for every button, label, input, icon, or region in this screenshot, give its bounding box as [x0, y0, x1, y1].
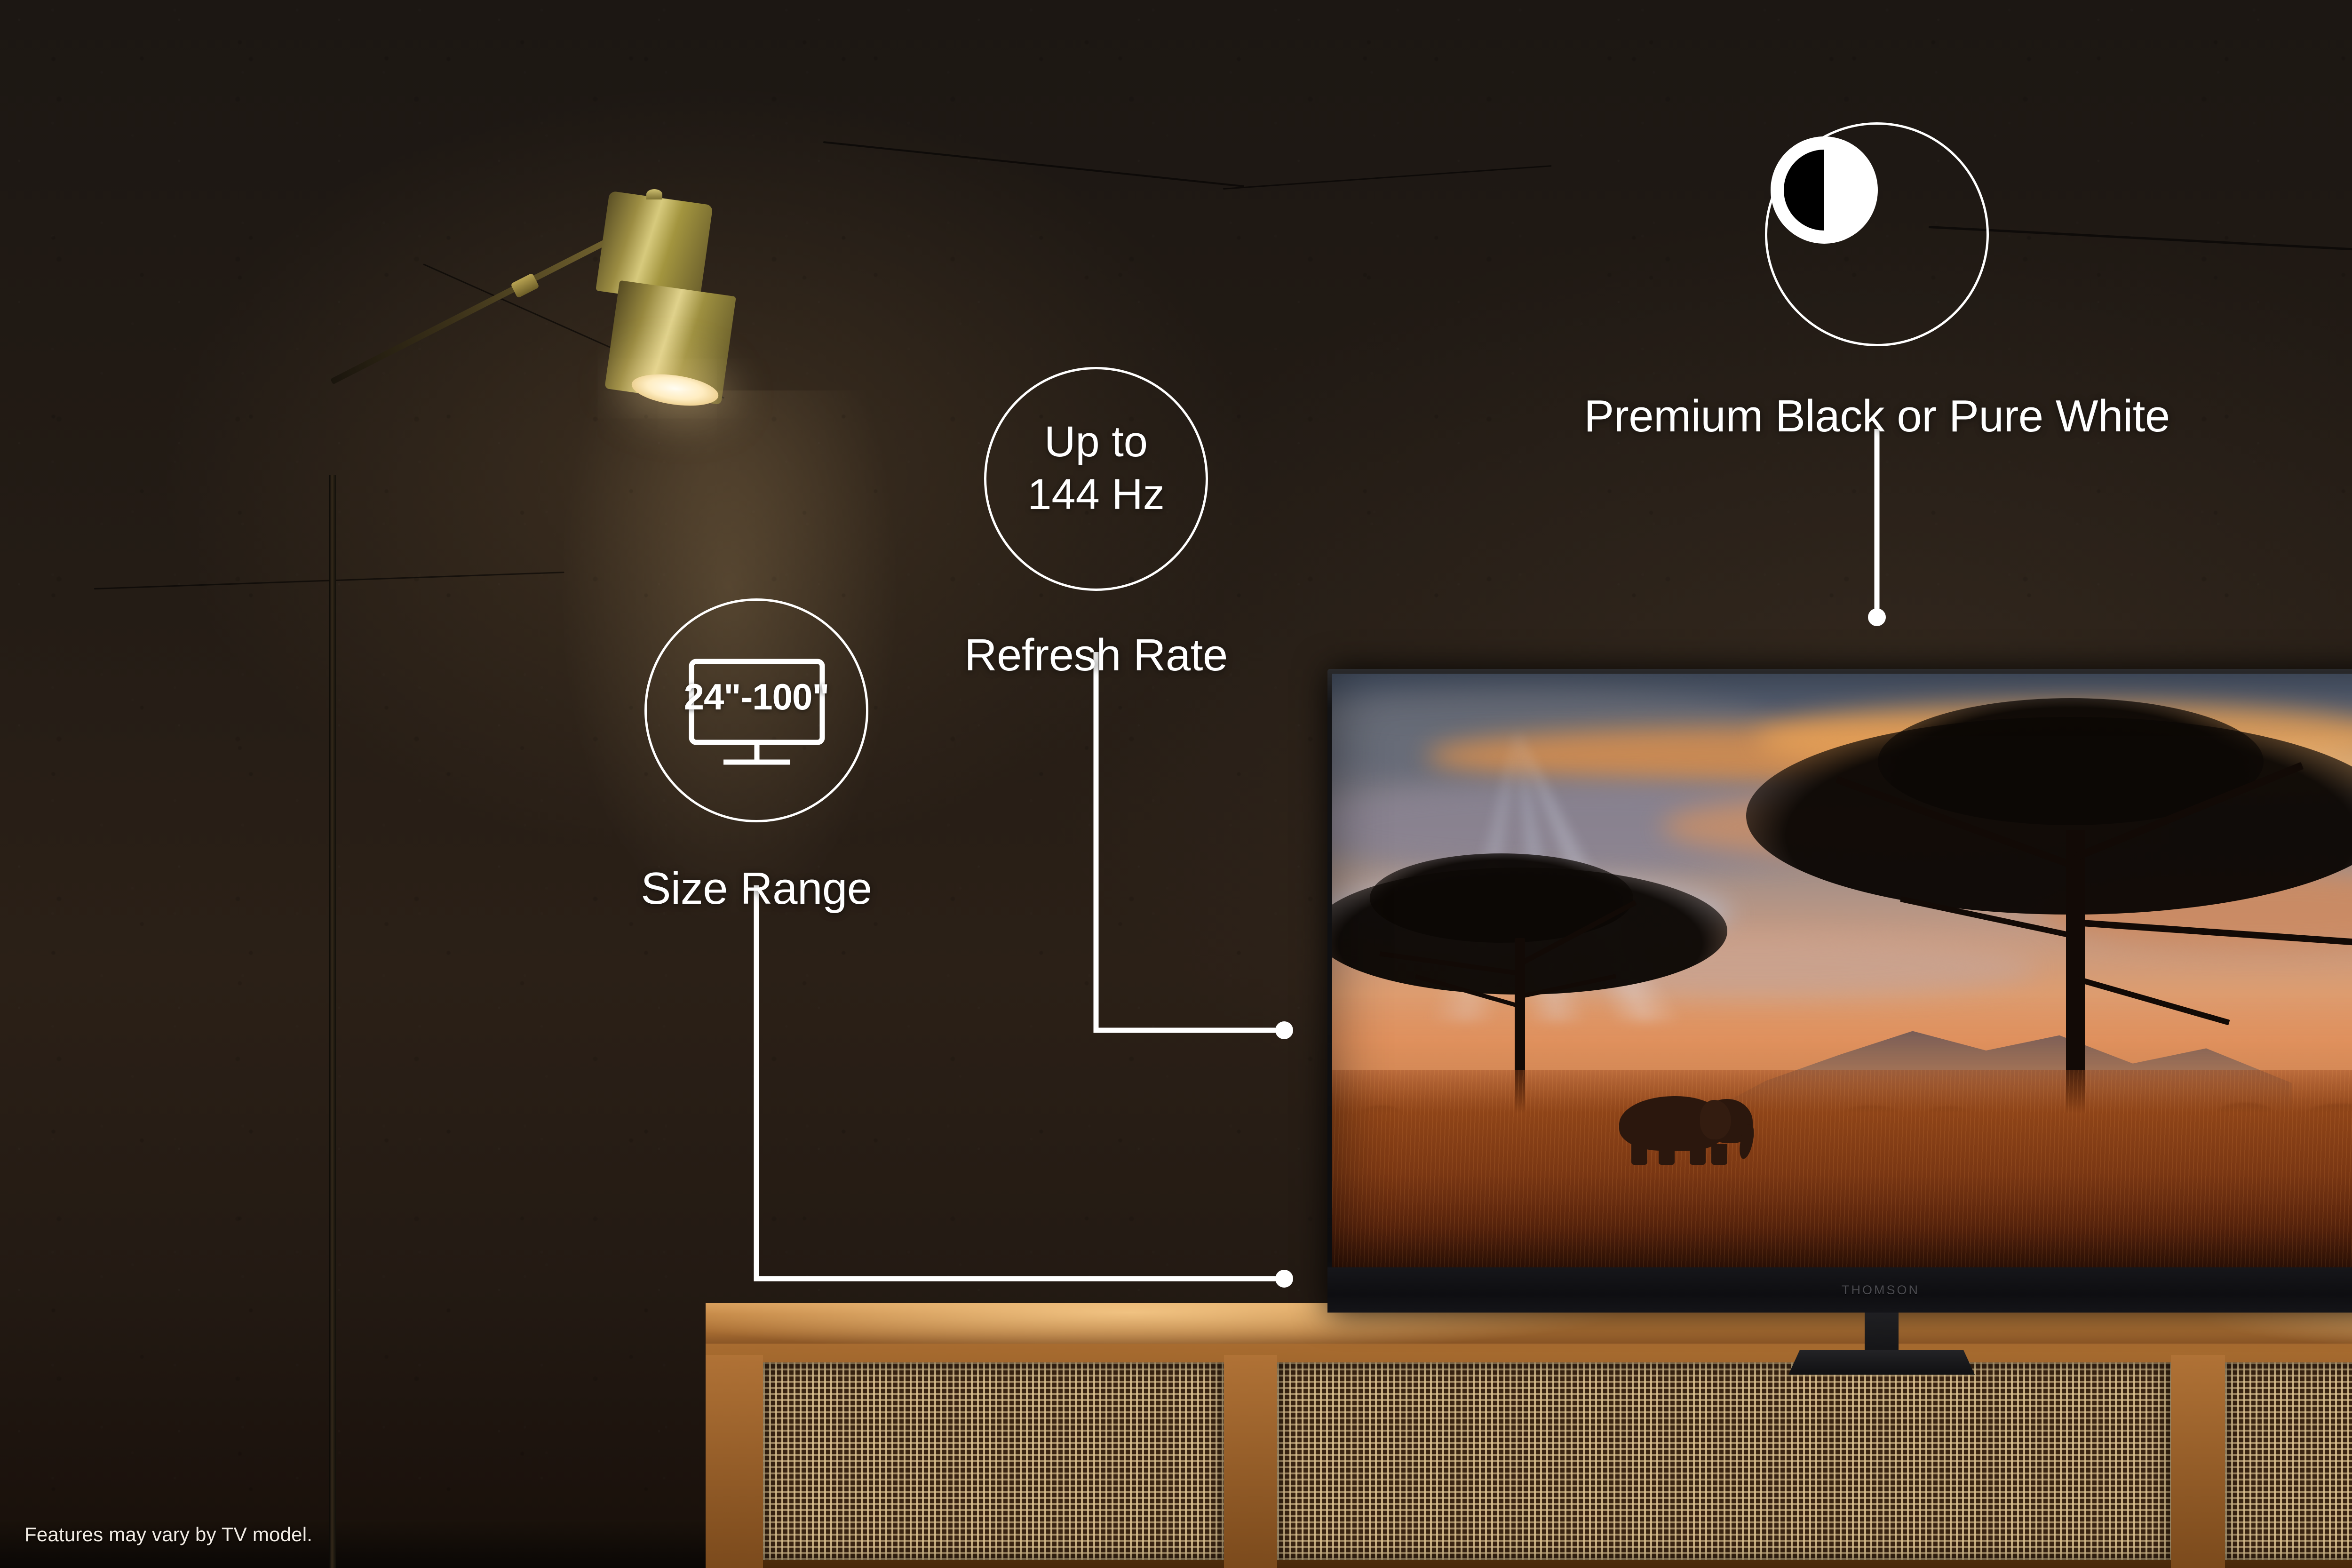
- tv-brand-logo: THOMSON: [1842, 1283, 1920, 1297]
- console-stile: [2171, 1355, 2225, 1568]
- lamp-pole: [329, 475, 336, 1568]
- media-console: [706, 1303, 2352, 1568]
- tv-bottom-bezel: THOMSON: [1327, 1267, 2352, 1313]
- product-feature-scene: THOMSON: [0, 0, 2352, 1568]
- tv-screen: [1332, 674, 2352, 1267]
- cane-panel: [1277, 1362, 2171, 1560]
- lamp-knob: [646, 189, 662, 199]
- tv-stand-neck: [1865, 1313, 1899, 1356]
- elephant-leg: [1690, 1144, 1706, 1165]
- cane-panel: [2225, 1362, 2352, 1560]
- tv-stand-base: [1788, 1350, 1975, 1375]
- tree-canopy: [1370, 853, 1633, 943]
- elephant-leg: [1711, 1144, 1727, 1165]
- elephant-leg: [1659, 1144, 1675, 1165]
- elephant-leg: [1631, 1144, 1647, 1165]
- console-stile: [1224, 1355, 1277, 1568]
- television: THOMSON: [1327, 669, 2352, 1313]
- footnote-disclaimer: Features may vary by TV model.: [24, 1523, 312, 1546]
- tree-branch: [2075, 919, 2352, 946]
- grass-texture: [1332, 1070, 2352, 1267]
- console-stile: [706, 1355, 763, 1568]
- elephant-ear: [1700, 1100, 1731, 1139]
- cane-panel: [763, 1362, 1224, 1560]
- elephant: [1619, 1084, 1760, 1163]
- tree-branch: [2074, 976, 2230, 1025]
